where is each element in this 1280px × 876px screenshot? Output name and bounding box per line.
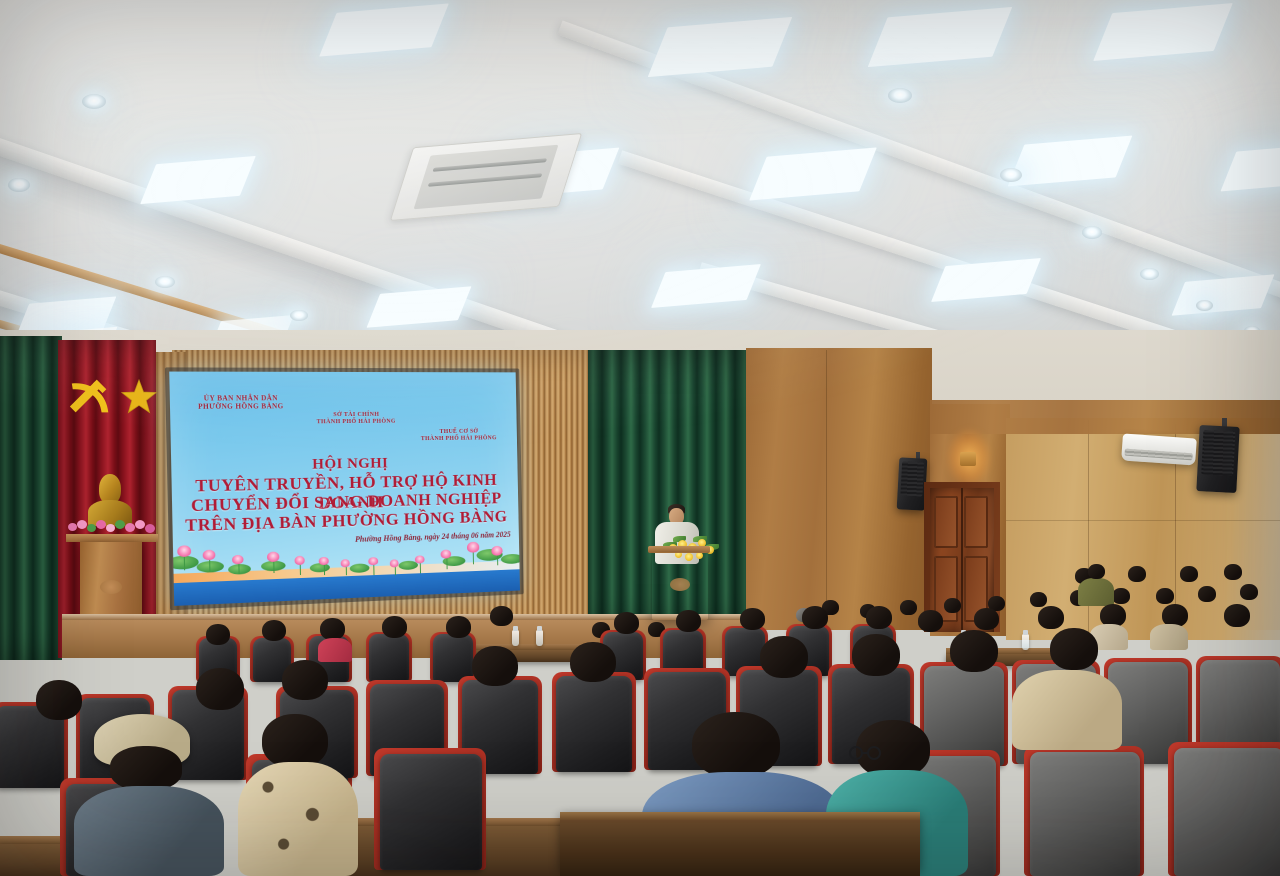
wall-sconce (960, 452, 976, 466)
wood-seam (1006, 520, 1280, 521)
ceiling-downlight (8, 178, 30, 192)
water-bottle (512, 630, 519, 646)
attendee-head (472, 646, 518, 686)
audience-chair (433, 634, 473, 682)
ceiling-downlight (1082, 226, 1102, 239)
attendee-head (196, 668, 244, 710)
water-bottle (536, 630, 543, 646)
attendee-shoulders (238, 762, 358, 876)
audience-chair (1174, 748, 1280, 876)
audience-chair (556, 676, 632, 772)
five-pointed-star-icon (120, 378, 158, 416)
ceiling-downlight (82, 94, 106, 109)
audience-chair (369, 634, 409, 682)
attendee-shoulders (1012, 670, 1122, 750)
wall-split-ac-icon (1121, 433, 1197, 465)
attendee-shoulders (1150, 624, 1188, 650)
ceiling-downlight (1000, 168, 1022, 182)
pedestal-top (66, 534, 158, 542)
attendee-shoulders (74, 786, 224, 876)
hammer-and-sickle-icon (62, 372, 120, 420)
attendee-head (570, 642, 616, 682)
ceiling-downlight (1196, 300, 1213, 311)
attendee-head (262, 714, 328, 768)
wall-speaker-left (897, 457, 928, 510)
foreground-desk (560, 818, 920, 876)
attendee-shoulders (318, 638, 352, 662)
attendee-head (282, 660, 328, 700)
ceiling-downlight (1140, 268, 1159, 280)
attendee-head (36, 680, 82, 720)
attendee-head (1050, 628, 1098, 670)
attendee-head (760, 636, 808, 678)
ceiling-downlight (290, 310, 308, 321)
conference-hall-photo: ỦY BAN NHÂN DÂN PHƯỜNG HỒNG BÀNG SỞ TÀI … (0, 0, 1280, 876)
attendee-head (852, 634, 900, 676)
audience-chair (380, 754, 482, 870)
attendee-head (950, 630, 998, 672)
water-bottle (1022, 634, 1029, 650)
ceiling-downlight (888, 88, 912, 103)
audience-chair (1030, 752, 1140, 876)
wall-speaker-right (1196, 425, 1239, 493)
ceiling-downlight (155, 276, 175, 288)
attendee-head (692, 712, 780, 778)
foreground-desk-top (560, 812, 920, 820)
eyeglasses-icon (848, 746, 882, 760)
